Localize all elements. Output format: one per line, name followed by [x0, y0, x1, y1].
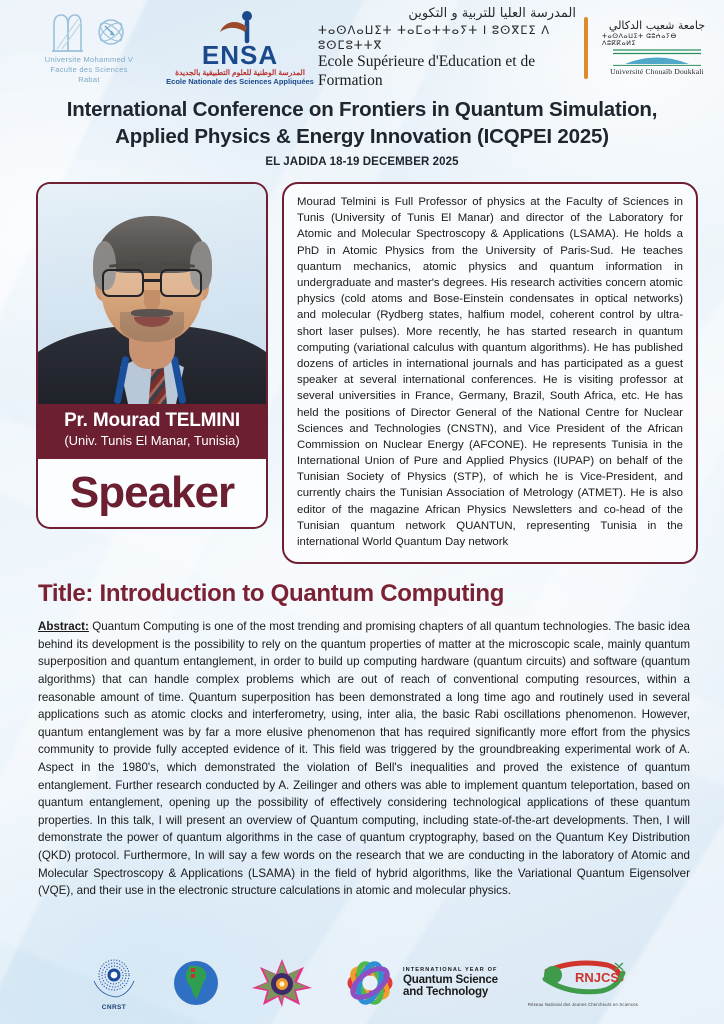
footer-logo-cnrst: CNRST: [86, 955, 142, 1011]
speaker-role-badge: Speaker: [36, 459, 268, 529]
speaker-name-plate: Pr. Mourad TELMINI (Univ. Tunis El Manar…: [36, 404, 268, 459]
conference-poster: Universite Mohammed V Faculte des Scienc…: [0, 0, 724, 1024]
um5-atom-icon: [94, 11, 128, 53]
um5-line-3: Rabat: [45, 75, 133, 85]
um5-line-1: Universite Mohammed V: [45, 55, 133, 65]
rnjcs-emblem-icon: RNJCS: [535, 959, 631, 1001]
logo-universite-mohammed-v: Universite Mohammed V Faculte des Scienc…: [14, 11, 164, 85]
abstract-body: Quantum Computing is one of the most tre…: [38, 620, 690, 897]
speaker-photo: [36, 182, 268, 404]
conference-date-location: EL JADIDA 18-19 DECEMBER 2025: [30, 156, 694, 168]
speaker-bio-text: Mourad Telmini is Full Professor of phys…: [297, 194, 683, 550]
talk-section: Title: Introduction to Quantum Computing…: [0, 564, 724, 900]
esef-arabic-name: المدرسة العليا للتربية و التكوين: [318, 6, 576, 22]
conference-title: International Conference on Frontiers in…: [30, 96, 694, 150]
talk-abstract: Abstract: Quantum Computing is one of th…: [38, 618, 690, 900]
svg-text:RNJCS: RNJCS: [575, 970, 619, 985]
header-divider: [584, 17, 588, 79]
logo-ensa: ENSA المدرسة الوطنية للعلوم التطبيقية با…: [174, 10, 306, 86]
ensa-acronym: ENSA: [202, 42, 278, 68]
footer-logo-mascir: [250, 958, 314, 1008]
portrait-illustration: [38, 184, 266, 404]
um5-arch-icon: [50, 11, 84, 53]
speaker-bio-box: Mourad Telmini is Full Professor of phys…: [282, 182, 698, 564]
poster-header: Universite Mohammed V Faculte des Scienc…: [0, 0, 724, 92]
iyq-atom-icon: [344, 959, 396, 1007]
logo-universite-chouaib-doukkali: جامعة شعيب الدكالي ⵜⴰⵙⴷⴰⵡⵉⵜ ⵛⵓⵄⴰⵢⴱ ⴷⵓⴽⴽⴰ…: [602, 20, 712, 76]
esef-french-name: Ecole Supérieure d'Education et de Forma…: [318, 53, 576, 90]
footer-logo-rnjcs: RNJCS Réseau National des Jeunes Cherche…: [528, 959, 638, 1007]
um5-emblem-group: [50, 11, 128, 53]
ucd-arabic-name: جامعة شعيب الدكالي: [609, 20, 705, 32]
footer-logo-iyq: INTERNATIONAL YEAR OF Quantum Science an…: [344, 959, 498, 1007]
ucd-tifinagh-name: ⵜⴰⵙⴷⴰⵡⵉⵜ ⵛⵓⵄⴰⵢⴱ ⴷⵓⴽⴽⴰⵍⵉ: [602, 33, 712, 47]
speaker-name: Pr. Mourad TELMINI: [44, 411, 260, 432]
ensa-french-name: Ecole Nationale des Sciences Appliquées: [166, 77, 314, 86]
speaker-section: Pr. Mourad TELMINI (Univ. Tunis El Manar…: [0, 168, 724, 564]
ucd-wave-icon: [611, 48, 703, 66]
speaker-affiliation: (Univ. Tunis El Manar, Tunisia): [44, 433, 260, 449]
ensa-figure-icon: [214, 10, 266, 44]
speaker-card: Pr. Mourad TELMINI (Univ. Tunis El Manar…: [36, 182, 268, 529]
esef-tifinagh-name: ⵜⴰⵙⴷⴰⵡⵉⵜ ⵜⴰⵎⴰⵜⵜⴰⵢⵜ ⵏ ⵓⵙⴳⵎⵉ ⴷ ⵓⵙⵎⵓⵜⵜⴳ: [318, 23, 576, 52]
um5-caption: Universite Mohammed V Faculte des Scienc…: [45, 55, 133, 85]
mascir-star-icon: [250, 958, 314, 1008]
speaker-role-label: Speaker: [70, 471, 234, 515]
footer-logo-african-physical-society: [172, 959, 220, 1007]
poster-footer-logos: CNRST: [0, 946, 724, 1020]
conference-title-line-1: International Conference on Frontiers in…: [30, 96, 694, 123]
abstract-label: Abstract:: [38, 620, 89, 633]
cnrst-sunburst-icon: [86, 955, 142, 1003]
conference-title-block: International Conference on Frontiers in…: [0, 92, 724, 168]
ucd-french-name: Université Chouaïb Doukkali: [610, 67, 704, 76]
cnrst-label: CNRST: [102, 1004, 126, 1011]
ensa-arabic-name: المدرسة الوطنية للعلوم التطبيقية بالجديد…: [175, 68, 305, 77]
rnjcs-subtitle: Réseau National des Jeunes Chercheurs en…: [528, 1002, 638, 1007]
iyq-wordmark: INTERNATIONAL YEAR OF Quantum Science an…: [403, 968, 498, 997]
conference-title-line-2: Applied Physics & Energy Innovation (ICQ…: [30, 123, 694, 150]
um5-line-2: Faculte des Sciences: [45, 65, 133, 75]
logo-esef: المدرسة العليا للتربية و التكوين ⵜⴰⵙⴷⴰⵡⵉ…: [312, 6, 576, 90]
talk-title: Title: Introduction to Quantum Computing: [38, 580, 690, 608]
africa-globe-icon: [172, 959, 220, 1007]
iyq-line-2: and Technology: [403, 986, 498, 998]
